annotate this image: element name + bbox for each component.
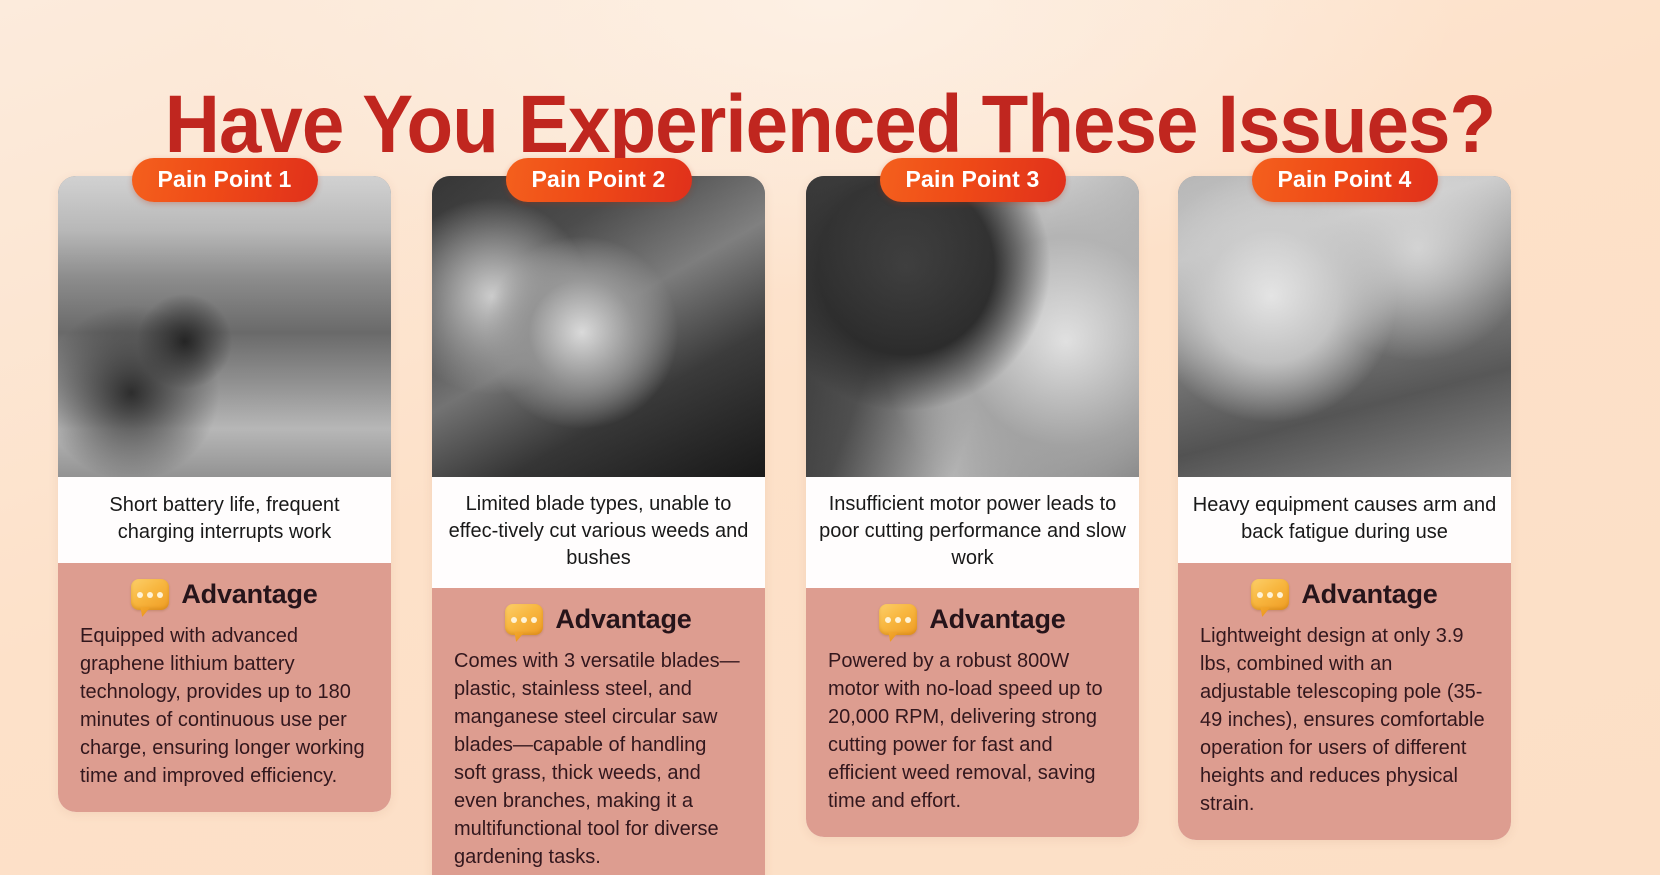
card-3-advantage-title: Advantage <box>929 604 1065 635</box>
bubble-dot <box>137 592 143 598</box>
bubble-dot <box>885 617 891 623</box>
card-2-photo-image <box>432 176 765 477</box>
speech-bubble-icon <box>879 604 917 635</box>
card-4-advantage-panel: Advantage Lightweight design at only 3.9… <box>1178 563 1511 840</box>
bubble-dot <box>905 617 911 623</box>
card-1-advantage-header: Advantage <box>80 579 369 610</box>
speech-bubble-icon <box>1251 579 1289 610</box>
card-2-pain-text: Limited blade types, unable to effec-tiv… <box>432 477 765 588</box>
bubble-dot <box>147 592 153 598</box>
card-4-pain-text: Heavy equipment causes arm and back fati… <box>1178 477 1511 563</box>
speech-bubble-icon <box>131 579 169 610</box>
infographic-page: Have You Experienced These Issues? Short… <box>0 0 1660 875</box>
bubble-dot <box>1277 592 1283 598</box>
pain-point-badge-3[interactable]: Pain Point 3 <box>879 158 1065 202</box>
pain-point-badge-2[interactable]: Pain Point 2 <box>505 158 691 202</box>
pain-point-card-3[interactable]: Insufficient motor power leads to poor c… <box>806 176 1139 837</box>
pain-point-card-1[interactable]: Short battery life, frequent charging in… <box>58 176 391 812</box>
card-4-advantage-header: Advantage <box>1200 579 1489 610</box>
card-3-advantage-panel: Advantage Powered by a robust 800W motor… <box>806 588 1139 837</box>
card-2-photo <box>432 176 765 477</box>
card-2-advantage-text: Comes with 3 versatile blades—plastic, s… <box>454 647 743 871</box>
card-4-advantage-text: Lightweight design at only 3.9 lbs, comb… <box>1200 622 1489 818</box>
card-3-photo <box>806 176 1139 477</box>
card-1-advantage-text: Equipped with advanced graphene lithium … <box>80 622 369 790</box>
bubble-dot <box>157 592 163 598</box>
card-4-photo <box>1178 176 1511 477</box>
bubble-dot <box>895 617 901 623</box>
card-1-pain-text: Short battery life, frequent charging in… <box>58 477 391 563</box>
speech-bubble-icon <box>505 604 543 635</box>
card-2-advantage-panel: Advantage Comes with 3 versatile blades—… <box>432 588 765 875</box>
card-1-advantage-panel: Advantage Equipped with advanced graphen… <box>58 563 391 812</box>
card-4-photo-image <box>1178 176 1511 477</box>
card-1-photo-image <box>58 176 391 477</box>
bubble-dot <box>511 617 517 623</box>
card-3-photo-image <box>806 176 1139 477</box>
card-1-photo <box>58 176 391 477</box>
card-3-pain-text: Insufficient motor power leads to poor c… <box>806 477 1139 588</box>
card-3-advantage-text: Powered by a robust 800W motor with no-l… <box>828 647 1117 815</box>
card-1-advantage-title: Advantage <box>181 579 317 610</box>
card-2-advantage-title: Advantage <box>555 604 691 635</box>
pain-point-badge-1[interactable]: Pain Point 1 <box>131 158 317 202</box>
bubble-dot <box>521 617 527 623</box>
bubble-dot <box>1257 592 1263 598</box>
bubble-dot <box>531 617 537 623</box>
pain-point-card-4[interactable]: Heavy equipment causes arm and back fati… <box>1178 176 1511 840</box>
pain-point-card-2[interactable]: Limited blade types, unable to effec-tiv… <box>432 176 765 875</box>
card-4-advantage-title: Advantage <box>1301 579 1437 610</box>
card-2-advantage-header: Advantage <box>454 604 743 635</box>
pain-point-badge-4[interactable]: Pain Point 4 <box>1251 158 1437 202</box>
pain-point-card-grid: Short battery life, frequent charging in… <box>58 176 1604 836</box>
bubble-dot <box>1267 592 1273 598</box>
card-3-advantage-header: Advantage <box>828 604 1117 635</box>
